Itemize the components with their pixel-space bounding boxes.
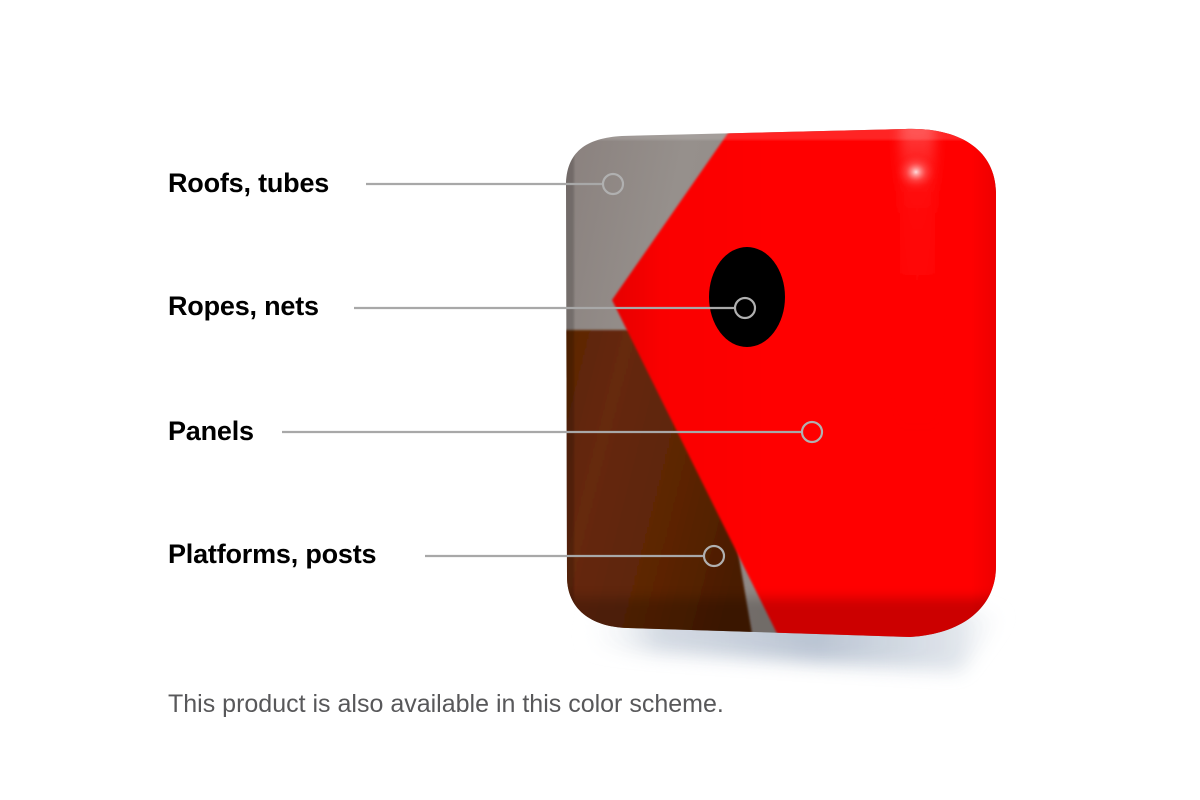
legend-label-roofs-tubes: Roofs, tubes: [168, 170, 329, 197]
legend-label-panels: Panels: [168, 418, 254, 445]
legend-label-ropes-nets: Ropes, nets: [168, 293, 319, 320]
specular-highlight: [894, 152, 938, 192]
left-edge-shade: [560, 110, 574, 670]
cube-body: [540, 110, 1020, 680]
caption-text: This product is also available in this c…: [168, 692, 724, 717]
face-black-dot: [709, 247, 785, 347]
legend-label-platforms-posts: Platforms, posts: [168, 541, 376, 568]
top-edge-light: [540, 128, 1020, 140]
color-scheme-illustration: Roofs, tubes Ropes, nets Panels Platform…: [0, 0, 1200, 800]
product-color-swatch-graphic: [0, 0, 1200, 800]
